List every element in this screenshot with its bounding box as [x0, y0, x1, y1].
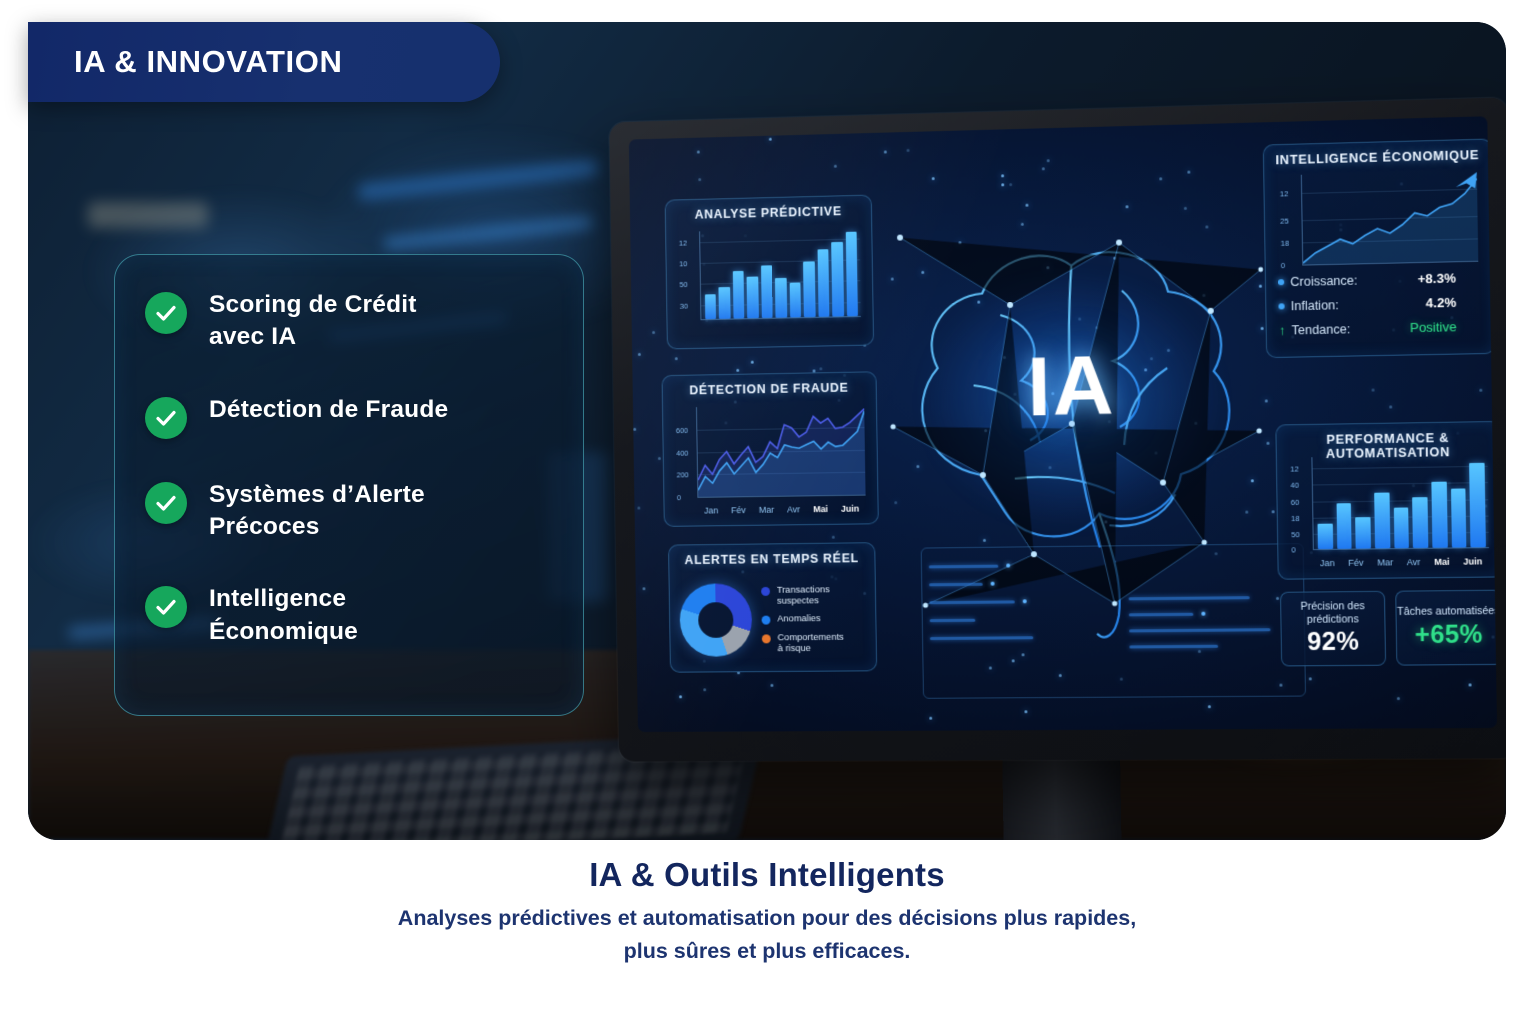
network-dot: [1184, 207, 1187, 210]
legend-item: Anomalies: [762, 613, 844, 625]
bullet-dot-icon: [1278, 279, 1284, 285]
brain-glow: [875, 230, 1270, 567]
network-dot: [1155, 452, 1158, 455]
network-dot: [834, 578, 837, 581]
chart-bar: [733, 271, 745, 319]
network-dot: [1448, 481, 1451, 484]
chart-line: [697, 411, 865, 490]
network-dot: [921, 270, 924, 273]
network-dot: [929, 717, 932, 720]
network-dot: [1021, 223, 1024, 226]
network-dot: [1491, 635, 1494, 638]
chart-bar: [1451, 489, 1467, 548]
chart-performance-automatisation: 12 40 60 18 50 0 JanFévMarAvrMaiJuin: [1287, 453, 1493, 571]
network-dot: [1479, 389, 1482, 392]
network-dot: [1398, 280, 1401, 283]
caption-title: IA & Outils Intelligents: [0, 856, 1534, 894]
network-dot: [770, 684, 773, 687]
network-dot: [1120, 678, 1123, 681]
legend-color-dot: [762, 634, 771, 643]
check-icon: [145, 586, 187, 628]
axis-tick-label: Mai: [1434, 557, 1450, 567]
metric-value: Positive: [1410, 319, 1484, 336]
hud-frame: [921, 543, 1306, 699]
network-dot: [824, 311, 827, 314]
network-dot: [832, 535, 835, 538]
network-dot: [679, 696, 682, 699]
network-dot: [1202, 294, 1205, 297]
caption-subtitle: Analyses prédictives et automatisation p…: [0, 902, 1534, 969]
feature-item[interactable]: Scoring de Crédit avec IA: [145, 289, 553, 354]
kpi-label: Précision des prédictions: [1281, 600, 1384, 625]
network-dot: [638, 507, 641, 510]
network-dot: [1047, 159, 1050, 162]
network-dot: [769, 137, 772, 140]
network-dot: [705, 319, 708, 322]
kpi-cards: Précision des prédictions92%Tâches autom…: [1280, 590, 1497, 667]
network-dot: [1207, 706, 1210, 709]
dashboard-screen: IA ANALY: [629, 116, 1497, 732]
network-dot: [1340, 223, 1343, 226]
chart-bar: [831, 242, 843, 316]
chart-line: [1302, 179, 1478, 263]
chart-bar: [1374, 493, 1390, 548]
network-dot: [1048, 466, 1051, 469]
metric-label: Inflation:: [1291, 298, 1339, 313]
kpi-label: Tâches automatisées: [1397, 605, 1497, 618]
panel-performance-automatisation[interactable]: PERFORMANCE & AUTOMATISATION 12 40 60 18: [1275, 421, 1497, 580]
network-dot: [1456, 431, 1459, 434]
chart-bar: [817, 250, 829, 317]
chart-bar: [845, 231, 858, 316]
kpi-value: 92%: [1307, 627, 1359, 657]
section-badge: IA & INNOVATION: [28, 22, 500, 102]
network-dot: [1346, 633, 1349, 636]
network-dot: [1250, 479, 1253, 482]
network-dot: [643, 587, 646, 590]
network-dot: [1025, 710, 1028, 713]
network-dot: [742, 570, 745, 573]
chart-bar: [705, 294, 717, 319]
network-dot: [1280, 683, 1283, 686]
legend-color-dot: [762, 616, 771, 625]
network-dot: [704, 688, 707, 691]
network-dot: [1126, 206, 1129, 209]
network-dot: [1052, 392, 1055, 395]
network-dots-background: [629, 116, 1497, 732]
hud-decoration: [1129, 596, 1302, 688]
network-dot: [1095, 326, 1098, 329]
network-dot: [1022, 653, 1025, 656]
chart-detection-fraude: 600 400 200 0 JanFévMarAvrMaiJuin: [673, 402, 870, 518]
network-dot: [1485, 505, 1488, 508]
network-dot: [1205, 226, 1208, 229]
metric-row: Croissance:+8.3%: [1278, 270, 1483, 290]
network-dot: [1447, 608, 1450, 611]
axis-tick-label: Fév: [1348, 558, 1363, 568]
network-dot: [1188, 171, 1191, 174]
check-icon: [145, 292, 187, 334]
network-dot: [1265, 399, 1268, 402]
network-dot: [750, 361, 753, 364]
ai-brain-graphic: IA: [860, 168, 1287, 645]
network-dot: [1392, 329, 1395, 332]
network-dot: [724, 421, 727, 424]
legend-item: Comportements à risque: [762, 631, 844, 654]
axis-tick-label: Mai: [813, 504, 828, 514]
network-dot: [703, 263, 706, 266]
slide-root: IA ANALY: [0, 0, 1534, 1024]
panel-title: DÉTECTION DE FRAUDE: [663, 380, 876, 398]
feature-label: Intelligence Économique: [209, 583, 358, 648]
panel-title: ALERTES EN TEMPS RÉEL: [669, 551, 874, 567]
chart-analyse-predictive: 12 10 50 30: [676, 226, 865, 341]
network-dot: [1010, 183, 1013, 186]
brain-icon: [860, 168, 1287, 645]
network-dot: [1026, 204, 1029, 207]
chart-bar: [1431, 482, 1447, 548]
feature-item[interactable]: Détection de Fraude: [145, 394, 553, 439]
network-dot: [864, 344, 867, 347]
axis-tick-label: Jan: [1320, 558, 1335, 568]
network-dot: [633, 428, 636, 431]
arrow-up-right-icon: [1456, 172, 1477, 189]
network-dot: [989, 667, 992, 670]
check-icon: [145, 482, 187, 524]
chart-intelligence-economique: 12 25 18 0: [1276, 168, 1482, 270]
feature-item[interactable]: Systèmes d’Alerte Précoces: [145, 479, 553, 544]
chart-bar: [803, 261, 815, 317]
network-dot: [1078, 317, 1081, 320]
features-card: Scoring de Crédit avec IA Détection de F…: [114, 254, 584, 716]
kpi-card[interactable]: Tâches automatisées+65%: [1395, 590, 1497, 666]
chart-bar: [1412, 497, 1428, 548]
network-dot: [833, 164, 836, 167]
chart-area: [1302, 179, 1478, 265]
network-dot: [1195, 421, 1198, 424]
network-dot: [1267, 442, 1270, 445]
network-dot: [1042, 167, 1045, 170]
network-dot: [702, 660, 705, 663]
metric-value: +8.3%: [1418, 270, 1483, 287]
network-dot: [1371, 388, 1374, 391]
network-dot: [1144, 368, 1147, 371]
chart-bar: [1336, 503, 1352, 548]
network-dot: [638, 353, 641, 356]
network-dot: [699, 178, 702, 181]
axis-tick-label: Juin: [841, 504, 859, 514]
network-dot: [984, 429, 987, 432]
network-dot: [907, 148, 910, 151]
network-dot: [1309, 551, 1312, 554]
panel-title: ANALYSE PRÉDICTIVE: [666, 204, 871, 223]
network-dot: [1047, 267, 1050, 270]
network-dot: [1412, 484, 1415, 487]
panel-detection-fraude[interactable]: DÉTECTION DE FRAUDE 600 400 200 0 J: [662, 371, 879, 527]
hud-decoration: [929, 558, 1090, 679]
panel-analyse-predictive[interactable]: ANALYSE PRÉDICTIVE 12 10 50 30: [665, 195, 874, 350]
network-dot: [1261, 327, 1264, 330]
network-dot: [958, 241, 961, 244]
network-dot: [736, 369, 739, 372]
network-dot: [1150, 357, 1153, 360]
network-dot: [1003, 356, 1006, 359]
metric-label: Croissance:: [1290, 273, 1357, 289]
network-dot: [1059, 674, 1062, 677]
network-dot: [764, 557, 767, 560]
axis-tick-label: Avr: [1407, 557, 1421, 567]
chart-bar: [1394, 508, 1410, 548]
network-dot: [1271, 511, 1274, 514]
network-dot: [1459, 489, 1462, 492]
axis-tick-label: Juin: [1463, 556, 1482, 566]
network-dot: [675, 357, 678, 360]
axis-tick-label: Fév: [731, 505, 746, 515]
network-dot: [1159, 177, 1162, 180]
network-dot: [884, 150, 887, 153]
arrow-up-icon: ↑: [1279, 323, 1286, 336]
network-dot: [1013, 393, 1016, 396]
chart-area: [697, 409, 866, 497]
network-dot: [916, 465, 919, 468]
network-dot: [863, 591, 866, 594]
network-dot: [658, 457, 661, 460]
network-dot: [1397, 697, 1400, 700]
network-dot: [1108, 420, 1111, 423]
chart-bar: [1318, 524, 1333, 549]
network-dot: [932, 178, 935, 181]
network-dot: [1389, 406, 1392, 409]
network-dot: [1011, 660, 1014, 663]
network-dot: [978, 301, 981, 304]
panel-alertes-temps-reel[interactable]: ALERTES EN TEMPS RÉEL Transactions suspe…: [668, 542, 877, 673]
metric-value: 4.2%: [1426, 294, 1483, 310]
caption: IA & Outils Intelligents Analyses prédic…: [0, 856, 1534, 969]
chart-bar: [789, 283, 801, 318]
chart-line: [697, 409, 865, 480]
metric-row: Inflation:4.2%: [1278, 294, 1483, 313]
network-dot: [1113, 256, 1116, 259]
monitor-stand-neck: [1002, 758, 1121, 840]
donut-legend: Transactions suspectesAnomaliesComportem…: [761, 584, 844, 654]
metric-label: Tendance:: [1291, 322, 1350, 337]
network-dot: [813, 369, 816, 372]
network-dot: [1245, 510, 1248, 513]
legend-label: Transactions suspectes: [777, 584, 830, 607]
network-dot: [1400, 182, 1403, 185]
hero-image: IA ANALY: [28, 22, 1506, 840]
feature-label: Systèmes d’Alerte Précoces: [209, 479, 425, 544]
network-dot: [890, 278, 893, 281]
network-dot: [1485, 519, 1488, 522]
panel-title: INTELLIGENCE ÉCONOMIQUE: [1264, 148, 1491, 168]
network-dot: [1468, 683, 1471, 686]
chart-bar: [761, 265, 773, 318]
bullet-dot-icon: [1278, 303, 1284, 309]
network-dot: [738, 671, 741, 674]
panel-title: PERFORMANCE & AUTOMATISATION: [1276, 430, 1497, 462]
network-dot: [652, 331, 655, 334]
network-dot: [1276, 597, 1279, 600]
feature-label: Scoring de Crédit avec IA: [209, 289, 417, 354]
network-dot: [791, 385, 794, 388]
network-dot: [1215, 552, 1218, 555]
feature-item[interactable]: Intelligence Économique: [145, 583, 553, 648]
network-dot: [734, 401, 737, 404]
network-dot: [843, 374, 846, 377]
axis-tick-label: Jan: [704, 505, 718, 515]
legend-item: Transactions suspectes: [761, 584, 843, 607]
axis-tick-label: Mar: [759, 505, 774, 515]
axis-tick-label: Mar: [1377, 557, 1393, 567]
legend-color-dot: [761, 587, 770, 596]
network-dot: [1409, 440, 1412, 443]
metric-row: ↑Tendance:Positive: [1279, 319, 1484, 338]
chart-bar: [719, 287, 731, 319]
network-dot: [1309, 677, 1312, 680]
network-dot: [1001, 175, 1004, 178]
network-dot: [1002, 183, 1005, 186]
chart-bar: [1470, 463, 1486, 547]
network-dot: [697, 150, 700, 153]
section-badge-label: IA & INNOVATION: [74, 44, 342, 80]
background-light-streak: [88, 202, 208, 228]
chart-bar: [747, 277, 759, 319]
panel-intelligence-economique[interactable]: INTELLIGENCE ÉCONOMIQUE 12 25 18 0: [1263, 138, 1495, 358]
network-dot: [1451, 316, 1454, 319]
chart-area: [697, 411, 866, 497]
monitor: IA ANALY: [609, 97, 1506, 761]
network-dot: [837, 399, 840, 402]
network-dot: [819, 367, 822, 370]
network-dot: [1291, 335, 1294, 338]
network-dot: [1167, 349, 1170, 352]
network-dot: [744, 234, 747, 237]
feature-label: Détection de Fraude: [209, 394, 448, 426]
network-dot: [1259, 284, 1262, 287]
chart-bar: [1355, 517, 1370, 549]
donut-chart-alerts: [679, 583, 752, 657]
network-dot: [983, 539, 986, 542]
legend-label: Anomalies: [777, 614, 821, 625]
axis-tick-label: Avr: [787, 504, 800, 514]
kpi-value: +65%: [1415, 620, 1483, 650]
network-dot: [1339, 229, 1342, 232]
kpi-card[interactable]: Précision des prédictions92%: [1280, 591, 1386, 667]
network-dot: [701, 234, 704, 237]
network-dot: [895, 501, 898, 504]
network-dot: [1198, 650, 1201, 653]
chart-bar: [775, 278, 787, 318]
network-dot: [1105, 520, 1108, 523]
check-icon: [145, 397, 187, 439]
network-dot: [835, 207, 838, 210]
network-dot: [831, 576, 834, 579]
legend-label: Comportements à risque: [777, 631, 844, 654]
brain-label: IA: [1027, 336, 1116, 435]
